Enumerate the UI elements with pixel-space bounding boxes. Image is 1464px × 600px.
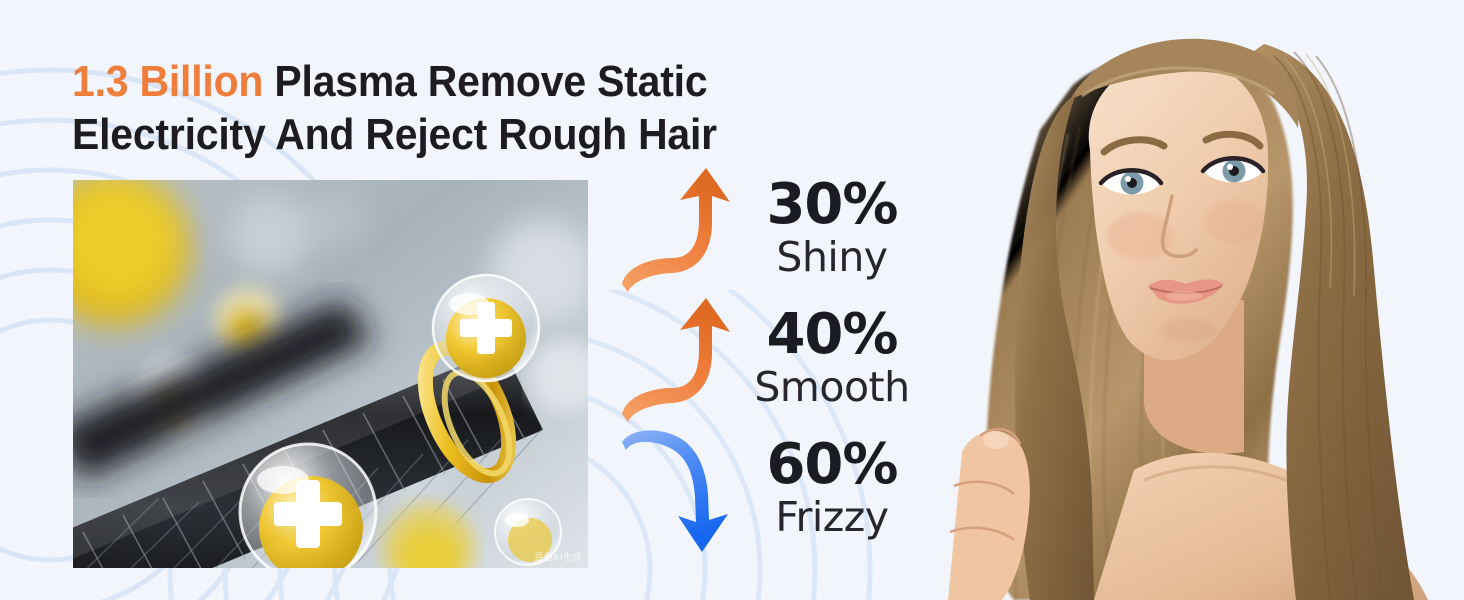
product-photo: 豆包AI生成	[73, 180, 588, 568]
stat-row-frizzy: 60% Frizzy	[620, 426, 920, 556]
photo-watermark: 豆包AI生成	[534, 550, 582, 563]
stat-row-smooth: 40% Smooth	[620, 296, 920, 426]
arrow-curve-up-icon	[620, 296, 738, 424]
stat-value: 30%	[742, 176, 922, 234]
stat-value: 60%	[742, 436, 922, 494]
stat-label: Shiny	[742, 234, 922, 280]
headline: 1.3 Billion Plasma Remove Static Electri…	[72, 55, 835, 161]
headline-accent: 1.3 Billion	[72, 57, 263, 106]
stat-text-shiny: 30% Shiny	[742, 176, 922, 280]
arrow-curve-down-icon	[620, 426, 738, 554]
arrow-curve-up-icon	[620, 166, 738, 294]
stat-label: Frizzy	[742, 494, 922, 540]
stat-value: 40%	[742, 306, 922, 364]
stat-label: Smooth	[742, 364, 922, 410]
stat-text-smooth: 40% Smooth	[742, 306, 922, 410]
stat-row-shiny: 30% Shiny	[620, 166, 920, 296]
stat-text-frizzy: 60% Frizzy	[742, 436, 922, 540]
plasma-hair-banner: 1.3 Billion Plasma Remove Static Electri…	[0, 0, 1464, 600]
stats-list: 30% Shiny 40% S	[620, 166, 920, 556]
model-portrait	[944, 0, 1464, 600]
